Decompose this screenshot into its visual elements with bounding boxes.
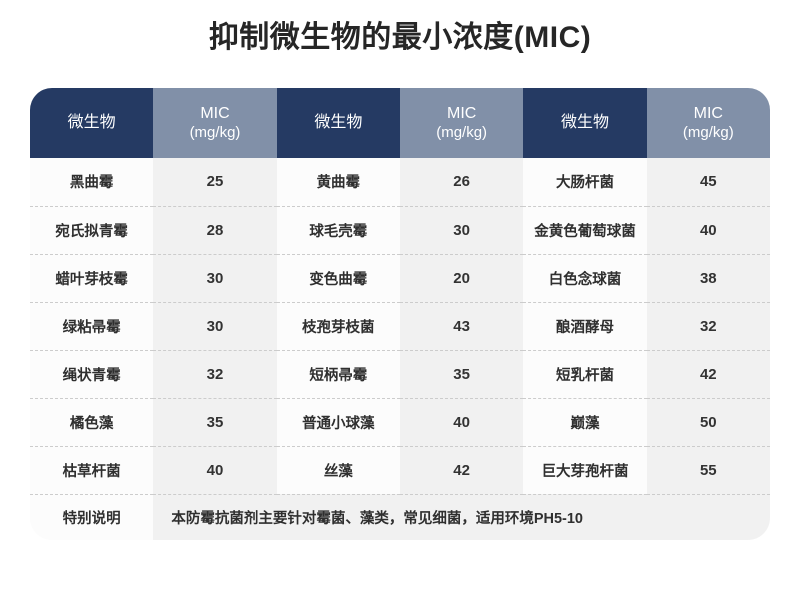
cell-microbe: 大肠杆菌 xyxy=(523,158,646,206)
cell-mic: 40 xyxy=(400,398,523,446)
cell-microbe: 短乳杆菌 xyxy=(523,350,646,398)
cell-mic: 50 xyxy=(647,398,770,446)
table-row: 绿粘帚霉 30 枝孢芽枝菌 43 酿酒酵母 32 xyxy=(30,302,770,350)
mic-table-page: 抑制微生物的最小浓度(MIC) 微生物 MIC (mg/kg) 微生物 xyxy=(0,0,800,589)
cell-microbe: 巅藻 xyxy=(523,398,646,446)
table-row: 绳状青霉 32 短柄帚霉 35 短乳杆菌 42 xyxy=(30,350,770,398)
mic-table-container: 微生物 MIC (mg/kg) 微生物 MIC (mg/kg) 微生物 xyxy=(30,88,770,540)
cell-microbe: 普通小球藻 xyxy=(277,398,400,446)
column-header-unit: (mg/kg) xyxy=(153,124,276,142)
cell-microbe: 变色曲霉 xyxy=(277,254,400,302)
table-row: 蜡叶芽枝霉 30 变色曲霉 20 白色念球菌 38 xyxy=(30,254,770,302)
cell-microbe: 蜡叶芽枝霉 xyxy=(30,254,153,302)
cell-microbe: 绿粘帚霉 xyxy=(30,302,153,350)
column-header-mic-2: MIC (mg/kg) xyxy=(400,88,523,158)
column-header-mic-1: MIC (mg/kg) xyxy=(153,88,276,158)
cell-mic: 20 xyxy=(400,254,523,302)
cell-mic: 30 xyxy=(153,254,276,302)
column-header-label: 微生物 xyxy=(561,114,609,131)
note-text: 本防霉抗菌剂主要针对霉菌、藻类，常见细菌，适用环境PH5-10 xyxy=(153,494,770,540)
cell-microbe: 球毛壳霉 xyxy=(277,206,400,254)
cell-microbe: 黄曲霉 xyxy=(277,158,400,206)
column-header-microbe-2: 微生物 xyxy=(277,88,400,158)
cell-mic: 40 xyxy=(153,446,276,494)
cell-mic: 55 xyxy=(647,446,770,494)
cell-microbe: 枯草杆菌 xyxy=(30,446,153,494)
column-header-unit: (mg/kg) xyxy=(400,124,523,142)
cell-mic: 25 xyxy=(153,158,276,206)
mic-table: 微生物 MIC (mg/kg) 微生物 MIC (mg/kg) 微生物 xyxy=(30,88,770,540)
table-row: 枯草杆菌 40 丝藻 42 巨大芽孢杆菌 55 xyxy=(30,446,770,494)
note-label: 特别说明 xyxy=(30,494,153,540)
table-note-row: 特别说明 本防霉抗菌剂主要针对霉菌、藻类，常见细菌，适用环境PH5-10 xyxy=(30,494,770,540)
cell-mic: 38 xyxy=(647,254,770,302)
cell-mic: 42 xyxy=(647,350,770,398)
cell-mic: 30 xyxy=(400,206,523,254)
cell-mic: 26 xyxy=(400,158,523,206)
column-header-label: MIC xyxy=(447,105,476,122)
cell-microbe: 枝孢芽枝菌 xyxy=(277,302,400,350)
cell-microbe: 白色念球菌 xyxy=(523,254,646,302)
column-header-label: MIC xyxy=(200,105,229,122)
table-header-row: 微生物 MIC (mg/kg) 微生物 MIC (mg/kg) 微生物 xyxy=(30,88,770,158)
cell-microbe: 金黄色葡萄球菌 xyxy=(523,206,646,254)
cell-mic: 30 xyxy=(153,302,276,350)
table-body: 黑曲霉 25 黄曲霉 26 大肠杆菌 45 宛氏拟青霉 28 球毛壳霉 30 金… xyxy=(30,158,770,540)
cell-microbe: 绳状青霉 xyxy=(30,350,153,398)
table-header: 微生物 MIC (mg/kg) 微生物 MIC (mg/kg) 微生物 xyxy=(30,88,770,158)
column-header-microbe-3: 微生物 xyxy=(523,88,646,158)
cell-mic: 32 xyxy=(153,350,276,398)
cell-microbe: 黑曲霉 xyxy=(30,158,153,206)
column-header-label: 微生物 xyxy=(68,114,116,131)
column-header-microbe-1: 微生物 xyxy=(30,88,153,158)
cell-microbe: 橘色藻 xyxy=(30,398,153,446)
cell-microbe: 酿酒酵母 xyxy=(523,302,646,350)
column-header-unit: (mg/kg) xyxy=(647,124,770,142)
cell-mic: 32 xyxy=(647,302,770,350)
cell-mic: 35 xyxy=(400,350,523,398)
cell-mic: 35 xyxy=(153,398,276,446)
cell-microbe: 短柄帚霉 xyxy=(277,350,400,398)
table-row: 黑曲霉 25 黄曲霉 26 大肠杆菌 45 xyxy=(30,158,770,206)
cell-mic: 43 xyxy=(400,302,523,350)
cell-mic: 40 xyxy=(647,206,770,254)
column-header-label: MIC xyxy=(694,105,723,122)
table-row: 橘色藻 35 普通小球藻 40 巅藻 50 xyxy=(30,398,770,446)
page-title: 抑制微生物的最小浓度(MIC) xyxy=(0,16,800,60)
cell-microbe: 巨大芽孢杆菌 xyxy=(523,446,646,494)
cell-mic: 45 xyxy=(647,158,770,206)
table-row: 宛氏拟青霉 28 球毛壳霉 30 金黄色葡萄球菌 40 xyxy=(30,206,770,254)
column-header-mic-3: MIC (mg/kg) xyxy=(647,88,770,158)
cell-mic: 42 xyxy=(400,446,523,494)
column-header-label: 微生物 xyxy=(314,114,362,131)
cell-microbe: 宛氏拟青霉 xyxy=(30,206,153,254)
cell-mic: 28 xyxy=(153,206,276,254)
cell-microbe: 丝藻 xyxy=(277,446,400,494)
